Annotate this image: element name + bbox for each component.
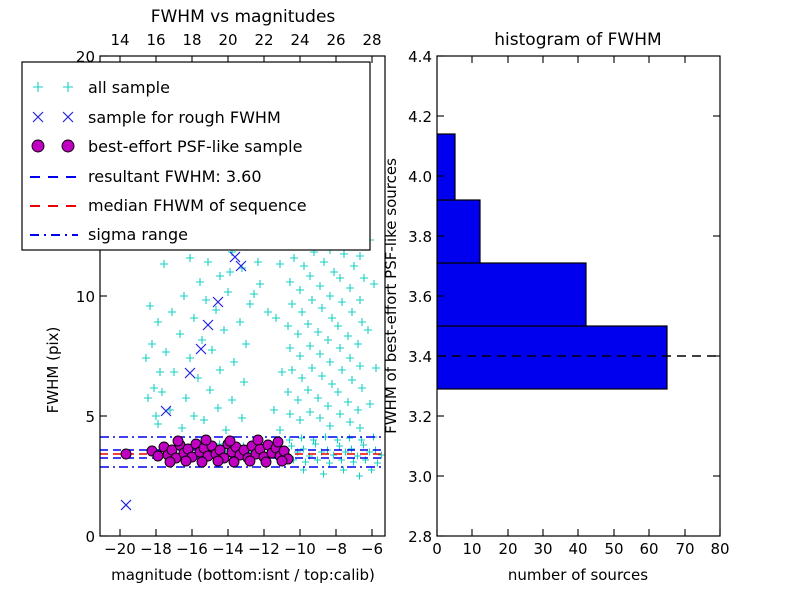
right-xaxis-ticklabels: 0 10 20 30 40 50 60 70 80 <box>432 540 729 558</box>
tick-label: 40 <box>568 540 587 558</box>
left-yaxis-label: FWHM (pix) <box>44 327 62 414</box>
histogram-bar[interactable] <box>437 326 667 389</box>
tick-label: −20 <box>104 540 136 558</box>
right-yaxis-label: FWHM of best-effort PSF-like sources <box>382 158 400 434</box>
legend-label: resultant FWHM: 3.60 <box>88 167 262 186</box>
tick-label: 4.0 <box>408 168 432 186</box>
tick-label: 24 <box>290 31 309 49</box>
tick-label: −6 <box>361 540 383 558</box>
tick-label: −12 <box>248 540 280 558</box>
legend-box <box>22 62 370 250</box>
tick-label: −8 <box>325 540 347 558</box>
tick-label: 14 <box>110 31 129 49</box>
plot-svg: FWHM vs magnitudes 14 16 18 20 22 24 26 … <box>0 0 800 600</box>
legend: all sample sample for rough FWHM best-ef… <box>22 62 370 250</box>
tick-label: 0 <box>432 540 442 558</box>
tick-label: 0 <box>85 528 95 546</box>
tick-label: 30 <box>533 540 552 558</box>
tick-label: 3.0 <box>408 468 432 486</box>
tick-label: 28 <box>362 31 381 49</box>
left-xaxis-bottom-ticklabels: −20 −18 −16 −14 −12 −10 −8 −6 <box>104 540 383 558</box>
tick-label: 4.4 <box>408 48 432 66</box>
tick-label: 3.4 <box>408 348 432 366</box>
tick-label: 10 <box>76 288 95 306</box>
legend-label: sample for rough FWHM <box>88 108 281 127</box>
tick-label: 50 <box>604 540 623 558</box>
tick-label: 22 <box>254 31 273 49</box>
left-panel-title: FWHM vs magnitudes <box>151 7 336 27</box>
legend-label: sigma range <box>88 225 188 244</box>
tick-label: 26 <box>326 31 345 49</box>
tick-label: 3.6 <box>408 288 432 306</box>
figure-canvas: FWHM vs magnitudes 14 16 18 20 22 24 26 … <box>0 0 800 600</box>
tick-label: 60 <box>639 540 658 558</box>
tick-label: 3.8 <box>408 228 432 246</box>
tick-label: −16 <box>176 540 208 558</box>
right-panel-title: histogram of FWHM <box>494 30 661 50</box>
tick-label: −14 <box>212 540 244 558</box>
right-yaxis-ticklabels: 2.8 3.0 3.2 3.4 3.6 3.8 4.0 4.2 4.4 <box>408 48 432 546</box>
tick-label: 16 <box>146 31 165 49</box>
tick-label: 10 <box>462 540 481 558</box>
tick-label: 3.2 <box>408 408 432 426</box>
tick-label: 5 <box>85 408 95 426</box>
tick-label: 70 <box>675 540 694 558</box>
tick-label: 20 <box>498 540 517 558</box>
histogram-bar[interactable] <box>437 200 480 263</box>
right-xaxis-label: number of sources <box>508 566 648 584</box>
legend-label: best-effort PSF-like sample <box>88 137 302 156</box>
legend-label: all sample <box>88 78 170 97</box>
legend-label: median FHWM of sequence <box>88 196 307 215</box>
tick-label: −18 <box>140 540 172 558</box>
tick-label: 18 <box>182 31 201 49</box>
histogram-bar[interactable] <box>437 134 455 200</box>
tick-label: 80 <box>710 540 729 558</box>
histogram-bar[interactable] <box>437 263 586 326</box>
left-xaxis-label: magnitude (bottom:isnt / top:calib) <box>111 566 375 584</box>
tick-label: 20 <box>218 31 237 49</box>
tick-label: −10 <box>284 540 316 558</box>
tick-label: 4.2 <box>408 108 432 126</box>
tick-label: 2.8 <box>408 528 432 546</box>
